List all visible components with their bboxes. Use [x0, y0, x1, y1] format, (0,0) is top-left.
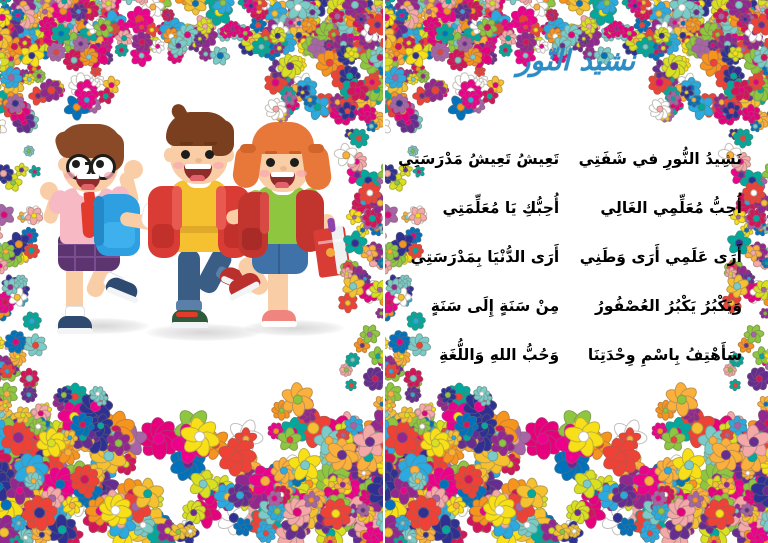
flower-icon [145, 23, 157, 35]
flower-icon [280, 485, 312, 517]
flower-icon [330, 9, 345, 24]
verse-row: أَرَى عَلَمِي أَرَى وَطَنِيأَرَى الدُّنْ… [396, 248, 748, 297]
flower-icon [25, 457, 74, 506]
flower-icon [245, 461, 285, 501]
flower-icon [56, 379, 92, 415]
flower-icon [0, 460, 15, 488]
flower-icon [280, 512, 311, 543]
flower-icon [109, 438, 141, 470]
flower-icon [69, 427, 94, 452]
flower-icon [9, 525, 35, 543]
flower-icon [327, 439, 358, 470]
flower-icon [352, 441, 384, 473]
flower-icon [271, 29, 300, 58]
flower-icon [64, 36, 78, 50]
flower-icon [331, 426, 367, 462]
flower-icon [364, 4, 384, 37]
flower-icon [306, 36, 330, 60]
flower-icon [339, 443, 383, 487]
flower-icon [112, 421, 150, 459]
flower-icon [37, 425, 60, 448]
flower-icon [4, 411, 42, 449]
flower-icon [0, 467, 18, 505]
flower-icon [310, 489, 326, 505]
illustration-three-schoolchildren [26, 96, 356, 366]
verse-hemistich-second: وَحُبُّ اللهِ وَاللُّغَةِ [396, 346, 559, 365]
flower-icon [4, 474, 36, 506]
flower-icon [347, 420, 384, 465]
flower-icon [91, 75, 103, 87]
flower-icon [6, 35, 30, 59]
flower-icon [238, 27, 252, 41]
flower-icon [21, 387, 36, 402]
flower-icon [9, 2, 38, 31]
flower-icon [0, 489, 29, 524]
flower-icon [219, 25, 234, 40]
flower-icon [41, 487, 62, 508]
flower-icon [0, 396, 8, 424]
flower-icon [258, 463, 291, 496]
flower-icon [0, 417, 28, 464]
flower-icon [356, 455, 384, 509]
flower-icon [23, 74, 35, 86]
flower-icon [234, 489, 257, 512]
flower-icon [0, 19, 14, 38]
flower-icon [271, 22, 287, 38]
flower-icon [0, 413, 35, 458]
verse-row: نَشِيدُ النُّورِ في شَفَتِيتَعِيشُ تَعِي… [396, 150, 748, 199]
flower-icon [62, 495, 83, 516]
flower-icon [111, 474, 151, 514]
flower-icon [270, 476, 298, 504]
flower-icon [275, 425, 305, 455]
flower-icon [354, 86, 378, 110]
flower-icon [284, 17, 297, 30]
flower-icon [0, 415, 40, 458]
flower-icon [38, 402, 51, 415]
flower-icon [350, 505, 384, 543]
flower-icon [357, 504, 370, 517]
flower-icon [182, 22, 204, 44]
flower-icon [177, 414, 222, 459]
flower-icon [210, 12, 222, 24]
flower-icon [210, 479, 245, 514]
flower-icon [355, 429, 380, 454]
flower-icon [315, 494, 355, 534]
flower-icon [67, 47, 87, 67]
flower-icon [325, 14, 339, 28]
flower-icon [269, 398, 294, 423]
flower-icon [56, 22, 72, 38]
flower-icon [244, 0, 257, 13]
flower-icon [84, 13, 108, 37]
flower-icon [77, 33, 102, 58]
flower-icon [186, 467, 220, 501]
flower-icon [20, 0, 44, 18]
flower-icon [48, 468, 64, 484]
flower-icon [79, 497, 118, 536]
flower-icon [91, 0, 125, 31]
flower-icon [0, 0, 17, 6]
flower-icon [310, 493, 337, 520]
flower-icon [31, 31, 61, 61]
flower-icon [359, 272, 371, 284]
flower-icon [356, 495, 374, 513]
flower-icon [306, 491, 336, 521]
flower-icon [174, 22, 201, 49]
flower-icon [287, 495, 300, 508]
flower-icon [16, 27, 40, 51]
flower-icon [0, 295, 2, 306]
flower-icon [0, 355, 12, 375]
flower-icon [167, 34, 190, 57]
flower-icon [19, 461, 44, 486]
verse-hemistich-first: أَرَى عَلَمِي أَرَى وَطَنِي [559, 248, 748, 267]
flower-icon [262, 18, 288, 44]
flower-icon [75, 417, 117, 459]
flower-icon [350, 500, 366, 516]
flower-icon [67, 475, 87, 495]
flower-icon [215, 25, 233, 43]
flower-icon [0, 223, 3, 244]
child-girl-with-pigtails [234, 110, 358, 334]
flower-icon [0, 420, 47, 470]
flower-icon [135, 0, 149, 5]
flower-icon [314, 482, 349, 517]
flower-icon [370, 0, 384, 9]
flower-icon [0, 297, 14, 324]
flower-icon [347, 381, 356, 390]
flower-icon [180, 499, 207, 526]
flower-icon [86, 489, 100, 503]
flower-icon [358, 506, 374, 522]
flower-icon [40, 458, 77, 495]
flower-icon [344, 419, 364, 439]
flower-icon [15, 424, 48, 457]
flower-icon [288, 386, 316, 414]
flower-icon [0, 49, 11, 75]
flower-icon [252, 0, 279, 14]
flower-icon [225, 480, 255, 510]
flower-icon [68, 2, 89, 23]
flower-icon [0, 17, 18, 39]
flower-icon [277, 475, 312, 510]
flower-icon [179, 519, 193, 533]
flower-icon [350, 444, 359, 453]
flower-icon [364, 172, 384, 193]
flower-icon [73, 0, 99, 14]
flower-icon [362, 366, 384, 392]
flower-icon [320, 473, 344, 497]
flower-icon [351, 9, 378, 36]
flower-icon [63, 22, 93, 52]
flower-icon [82, 493, 119, 530]
flower-icon [0, 65, 24, 92]
flower-icon [225, 446, 266, 487]
flower-icon [0, 487, 23, 510]
flower-icon [231, 467, 275, 511]
flower-icon [368, 440, 384, 468]
flower-icon [272, 516, 312, 543]
flower-icon [243, 32, 261, 50]
flower-icon [18, 416, 64, 462]
flower-icon [90, 386, 105, 401]
flower-icon [68, 9, 80, 21]
flower-icon [99, 50, 113, 64]
flower-icon [21, 476, 44, 499]
flower-icon [357, 28, 381, 52]
flower-icon [257, 461, 308, 512]
flower-icon [361, 414, 384, 450]
flower-icon [303, 37, 323, 57]
flower-icon [187, 494, 226, 533]
flower-icon [314, 512, 335, 533]
flower-icon [64, 49, 86, 71]
flower-icon [30, 0, 45, 3]
flower-icon [359, 280, 383, 304]
flower-icon [0, 96, 3, 107]
flower-icon [0, 71, 26, 97]
flower-icon [35, 446, 72, 483]
flower-icon [50, 420, 73, 443]
flower-icon [301, 485, 328, 512]
flower-icon [266, 450, 316, 500]
flower-icon [32, 0, 51, 14]
flower-icon [360, 444, 383, 467]
flower-icon [103, 429, 133, 459]
flower-icon [192, 19, 216, 43]
flower-icon [0, 435, 22, 465]
flower-icon [56, 441, 80, 465]
flower-icon [345, 518, 374, 543]
flower-icon [16, 490, 62, 536]
flower-icon [0, 336, 5, 351]
flower-icon [3, 518, 33, 543]
flower-icon [0, 355, 17, 379]
flower-icon [302, 492, 319, 509]
flower-icon [0, 510, 27, 543]
flower-icon [1, 89, 27, 115]
flower-icon [338, 0, 355, 14]
flower-icon [245, 480, 275, 510]
flower-icon [8, 362, 20, 374]
flower-icon [357, 279, 383, 305]
flower-icon [361, 326, 379, 344]
flower-icon [35, 0, 60, 12]
flower-icon [281, 73, 294, 86]
flower-icon [0, 515, 15, 543]
flower-icon [359, 243, 379, 263]
flower-icon [26, 458, 45, 477]
flower-icon [279, 494, 315, 530]
flower-icon [164, 29, 179, 44]
flower-icon [296, 12, 323, 39]
flower-icon [19, 405, 56, 442]
flower-icon [222, 414, 268, 460]
flower-icon [90, 405, 143, 458]
flower-icon [11, 450, 52, 491]
flower-icon [293, 18, 305, 30]
flower-icon [12, 8, 25, 21]
flower-icon [0, 257, 9, 274]
flower-icon [208, 472, 236, 500]
flower-icon [164, 522, 177, 535]
page-spine [383, 0, 385, 543]
flower-icon [0, 15, 24, 42]
flower-icon [137, 485, 157, 505]
flower-icon [0, 499, 2, 518]
flower-icon [120, 0, 140, 5]
flower-icon [334, 476, 350, 492]
flower-icon [312, 45, 348, 81]
flower-icon [370, 0, 384, 19]
flower-icon [99, 503, 130, 534]
flower-icon [0, 461, 27, 506]
flower-icon [320, 22, 341, 43]
flower-icon [0, 392, 3, 410]
flower-icon [357, 15, 366, 24]
flower-icon [286, 447, 323, 484]
flower-icon [224, 496, 258, 530]
flower-icon [83, 0, 102, 5]
flower-icon [32, 69, 46, 83]
flower-icon [349, 497, 367, 515]
flower-icon [229, 23, 248, 42]
flower-icon [365, 467, 384, 492]
flower-icon [353, 519, 380, 543]
flower-icon [363, 471, 384, 511]
flower-icon [367, 111, 384, 129]
flower-icon [93, 32, 108, 47]
flower-icon [28, 38, 39, 49]
flower-icon [62, 0, 80, 10]
flower-icon [289, 54, 307, 72]
flower-icon [84, 43, 110, 69]
flower-icon [329, 495, 358, 524]
flower-icon [22, 34, 41, 53]
flower-icon [0, 165, 12, 182]
flower-icon [297, 26, 322, 51]
flower-icon [270, 484, 292, 506]
flower-icon [16, 457, 32, 473]
flower-icon [324, 514, 348, 538]
flower-icon [68, 33, 87, 52]
flower-icon [360, 18, 375, 33]
flower-icon [89, 497, 115, 523]
flower-icon [94, 18, 109, 33]
flower-icon [283, 0, 314, 23]
flower-icon [342, 492, 367, 517]
flower-icon [333, 421, 355, 443]
flower-icon [5, 449, 28, 472]
flower-icon [247, 0, 270, 22]
flower-icon [0, 25, 11, 49]
flower-icon [336, 44, 357, 65]
flower-icon [2, 279, 19, 296]
flower-icon [322, 0, 345, 3]
flower-icon [78, 416, 121, 459]
flower-icon [108, 24, 119, 35]
flower-icon [339, 66, 359, 86]
flower-icon [80, 430, 114, 464]
flower-icon [74, 468, 90, 484]
flower-icon [325, 463, 362, 500]
flower-icon [363, 472, 384, 502]
flower-icon [212, 496, 256, 540]
flower-icon [10, 281, 26, 297]
flower-icon [71, 35, 90, 54]
flower-icon [0, 362, 16, 379]
flower-icon [0, 398, 13, 413]
flower-icon [13, 29, 31, 47]
flower-icon [332, 419, 361, 448]
flower-icon [333, 444, 370, 481]
flower-icon [0, 408, 20, 429]
flower-icon [38, 496, 72, 530]
flower-icon [355, 103, 378, 126]
flower-icon [285, 23, 312, 50]
flower-icon [280, 460, 309, 489]
flower-icon [339, 8, 361, 30]
flower-icon [1, 96, 28, 123]
flower-icon [250, 17, 267, 34]
flower-icon [0, 70, 2, 83]
flower-icon [254, 27, 277, 50]
verse-hemistich-second: أَرَى الدُّنْيَا بِمَدْرَسَتِي [396, 248, 559, 267]
flower-icon [94, 489, 136, 531]
flower-icon [367, 346, 384, 368]
flower-icon [140, 0, 166, 19]
flower-icon [4, 92, 26, 114]
flower-icon [145, 490, 166, 511]
flower-icon [0, 50, 12, 81]
flower-icon [145, 35, 162, 52]
flower-icon [28, 416, 48, 436]
verse-hemistich-second: تَعِيشُ تَعِيشُ مَدْرَسَتِي [396, 150, 559, 169]
page-title: نشيد النّور [384, 44, 768, 77]
verse-hemistich-first: سَأَهْتِفُ بِاسْمِ وِحْدَتِنَا [559, 346, 748, 365]
flower-icon [88, 35, 109, 56]
flower-icon [198, 428, 233, 463]
flower-icon [303, 0, 330, 18]
flower-icon [357, 12, 371, 26]
flower-icon [194, 476, 226, 508]
flower-icon [31, 404, 50, 423]
flower-icon [287, 0, 302, 7]
flower-icon [114, 451, 140, 477]
flower-icon [245, 506, 283, 543]
flower-icon [189, 38, 201, 50]
flower-icon [363, 73, 383, 93]
flower-icon [15, 36, 36, 57]
flower-icon [42, 29, 66, 53]
flower-icon [27, 27, 56, 56]
flower-icon [0, 477, 15, 497]
flower-icon [61, 27, 74, 40]
flower-icon [166, 441, 211, 486]
flower-icon [17, 367, 40, 390]
flower-icon [136, 21, 148, 33]
verse-hemistich-first: أُحِبُّ مُعَلِّمِي الغَالِي [559, 199, 748, 218]
flower-icon [283, 57, 301, 75]
flower-icon [31, 523, 53, 543]
flower-icon [363, 77, 384, 106]
flower-icon [369, 247, 384, 268]
flower-icon [73, 9, 99, 35]
flower-icon [316, 413, 363, 460]
flower-icon [83, 414, 114, 445]
flower-icon [358, 473, 384, 509]
